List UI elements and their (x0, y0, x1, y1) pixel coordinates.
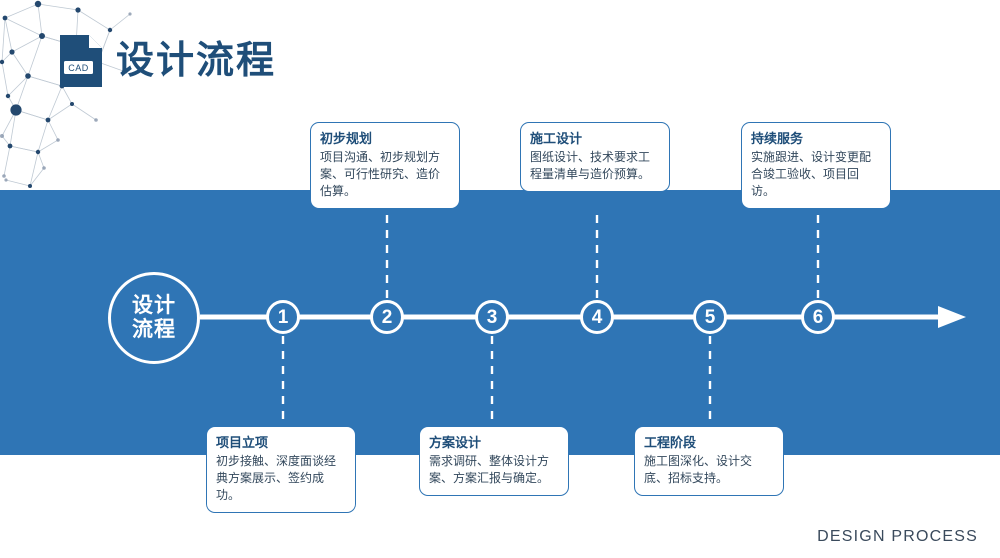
hub-circle: 设计 流程 (108, 272, 200, 364)
hub-label-line1: 设计 (132, 294, 176, 318)
info-box-body: 项目沟通、初步规划方案、可行性研究、造价估算。 (320, 149, 450, 200)
step-circle-5[interactable]: 5 (693, 300, 727, 334)
info-box-title: 施工设计 (530, 130, 660, 148)
info-box-title: 初步规划 (320, 130, 450, 148)
page-title: 设计流程 (116, 42, 276, 80)
info-box-title: 持续服务 (751, 130, 881, 148)
hub-label-line2: 流程 (132, 318, 176, 342)
cad-file-icon: CAD (60, 35, 102, 87)
info-box-body: 实施跟进、设计变更配合竣工验收、项目回访。 (751, 149, 881, 200)
info-box-body: 初步接触、深度面谈经典方案展示、签约成功。 (216, 453, 346, 504)
info-box-title: 工程阶段 (644, 434, 774, 452)
svg-text:CAD: CAD (68, 63, 89, 73)
info-box-step-3[interactable]: 方案设计 需求调研、整体设计方案、方案汇报与确定。 (419, 426, 569, 496)
step-circle-4[interactable]: 4 (580, 300, 614, 334)
info-box-body: 需求调研、整体设计方案、方案汇报与确定。 (429, 453, 559, 487)
step-circle-2[interactable]: 2 (370, 300, 404, 334)
step-circle-6[interactable]: 6 (801, 300, 835, 334)
step-circle-3[interactable]: 3 (475, 300, 509, 334)
info-box-step-5[interactable]: 工程阶段 施工图深化、设计交底、招标支持。 (634, 426, 784, 496)
slide-header: CAD 设计流程 (60, 30, 276, 92)
info-box-title: 项目立项 (216, 434, 346, 452)
step-circle-1[interactable]: 1 (266, 300, 300, 334)
slide-canvas: CAD 设计流程 设计 流程 1 2 3 4 5 6 初步规划 项目沟通、初步规… (0, 0, 1000, 558)
info-box-body: 图纸设计、技术要求工程量清单与造价预算。 (530, 149, 660, 183)
info-box-step-4[interactable]: 施工设计 图纸设计、技术要求工程量清单与造价预算。 (520, 122, 670, 192)
info-box-body: 施工图深化、设计交底、招标支持。 (644, 453, 774, 487)
info-box-step-2[interactable]: 初步规划 项目沟通、初步规划方案、可行性研究、造价估算。 (310, 122, 460, 209)
info-box-step-6[interactable]: 持续服务 实施跟进、设计变更配合竣工验收、项目回访。 (741, 122, 891, 209)
info-box-title: 方案设计 (429, 434, 559, 452)
footer-label: DESIGN PROCESS (817, 528, 978, 546)
info-box-step-1[interactable]: 项目立项 初步接触、深度面谈经典方案展示、签约成功。 (206, 426, 356, 513)
